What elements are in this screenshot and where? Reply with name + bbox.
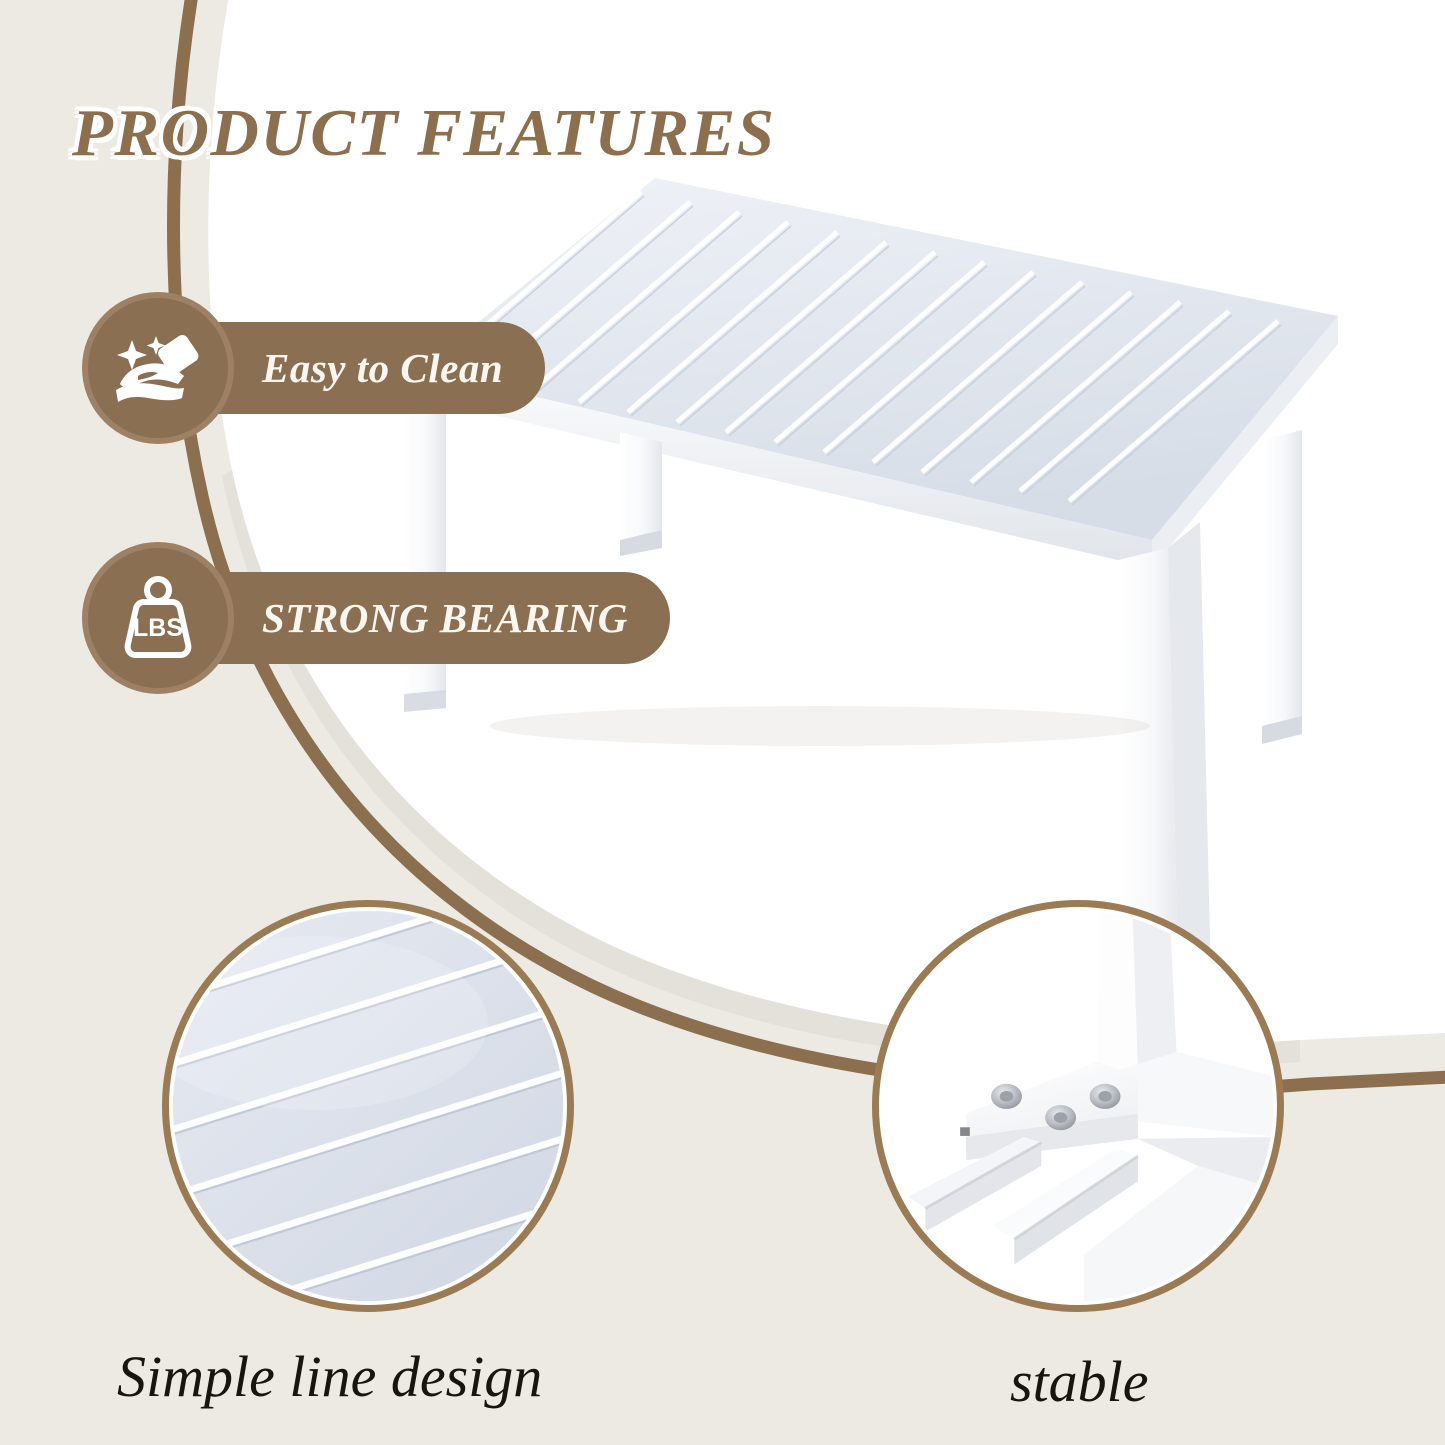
weight-icon-label: LBS [133,614,183,642]
slat-surface-closeup [169,907,567,1305]
caption-stable: stable [1010,1348,1149,1415]
leg-joint-screws-closeup [879,907,1277,1305]
page-title: PRODUCT FEATURES [72,95,775,172]
feature-badge-strong-bearing[interactable]: STRONG BEARING LBS [82,542,234,694]
weight-lbs-icon: LBS [82,542,234,694]
table-leg-front-left [620,432,662,540]
infographic-canvas: PRODUCT FEATURES Easy to Clean [0,0,1445,1445]
detail-circle-leg-joint[interactable] [872,900,1284,1312]
caption-simple-line-design: Simple line design [117,1343,542,1410]
feature-badge-easy-to-clean[interactable]: Easy to Clean [82,292,234,444]
hand-wiping-sparkle-icon [82,292,234,444]
table-leg-back-right [1262,430,1302,726]
detail-circle-slat-texture[interactable] [162,900,574,1312]
